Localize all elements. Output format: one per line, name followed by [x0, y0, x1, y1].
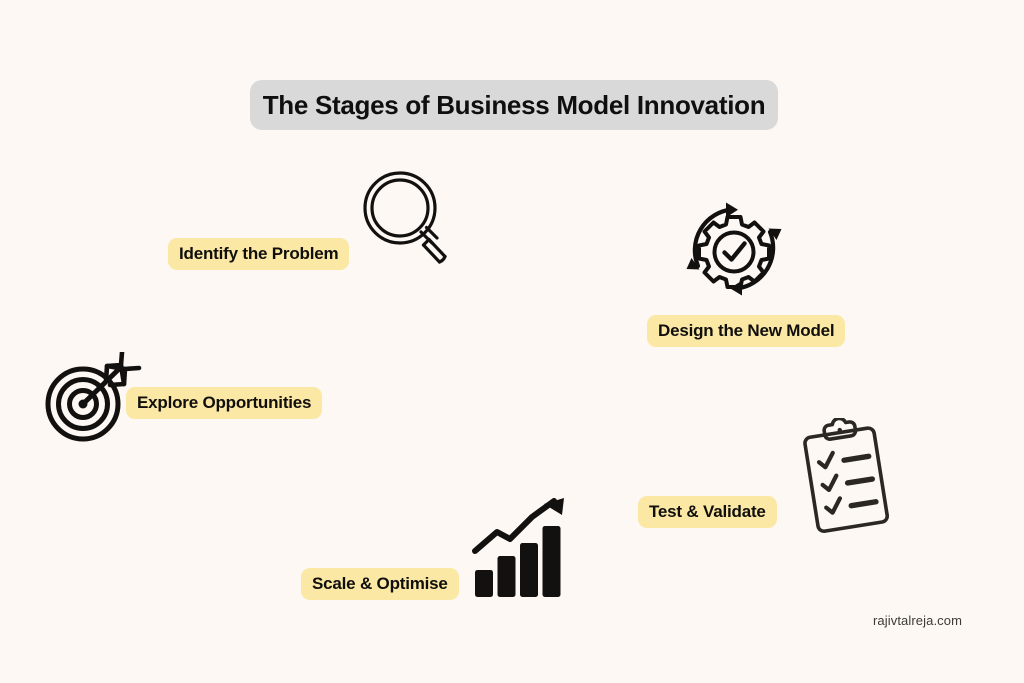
- clipboard-checklist-icon: [794, 418, 900, 540]
- stage-label-design: Design the New Model: [647, 315, 845, 347]
- stage-label-text: Explore Opportunities: [137, 393, 311, 413]
- stage-label-explore: Explore Opportunities: [126, 387, 322, 419]
- stage-label-scale: Scale & Optimise: [301, 568, 459, 600]
- site-watermark: rajivtalreja.com: [873, 613, 962, 628]
- gear-with-checkmark-cycle-icon: [685, 198, 783, 300]
- stage-label-text: Test & Validate: [649, 502, 766, 522]
- magnifying-glass-icon: [360, 168, 454, 272]
- stage-label-text: Identify the Problem: [179, 244, 338, 264]
- growth-bar-chart-arrow-icon: [470, 498, 570, 598]
- infographic-canvas: The Stages of Business Model Innovation …: [0, 0, 1024, 683]
- stage-label-text: Scale & Optimise: [312, 574, 448, 594]
- stage-label-text: Design the New Model: [658, 321, 834, 341]
- stage-label-test: Test & Validate: [638, 496, 777, 528]
- page-title-pill: The Stages of Business Model Innovation: [250, 80, 778, 130]
- page-title: The Stages of Business Model Innovation: [263, 90, 766, 121]
- stage-label-identify: Identify the Problem: [168, 238, 349, 270]
